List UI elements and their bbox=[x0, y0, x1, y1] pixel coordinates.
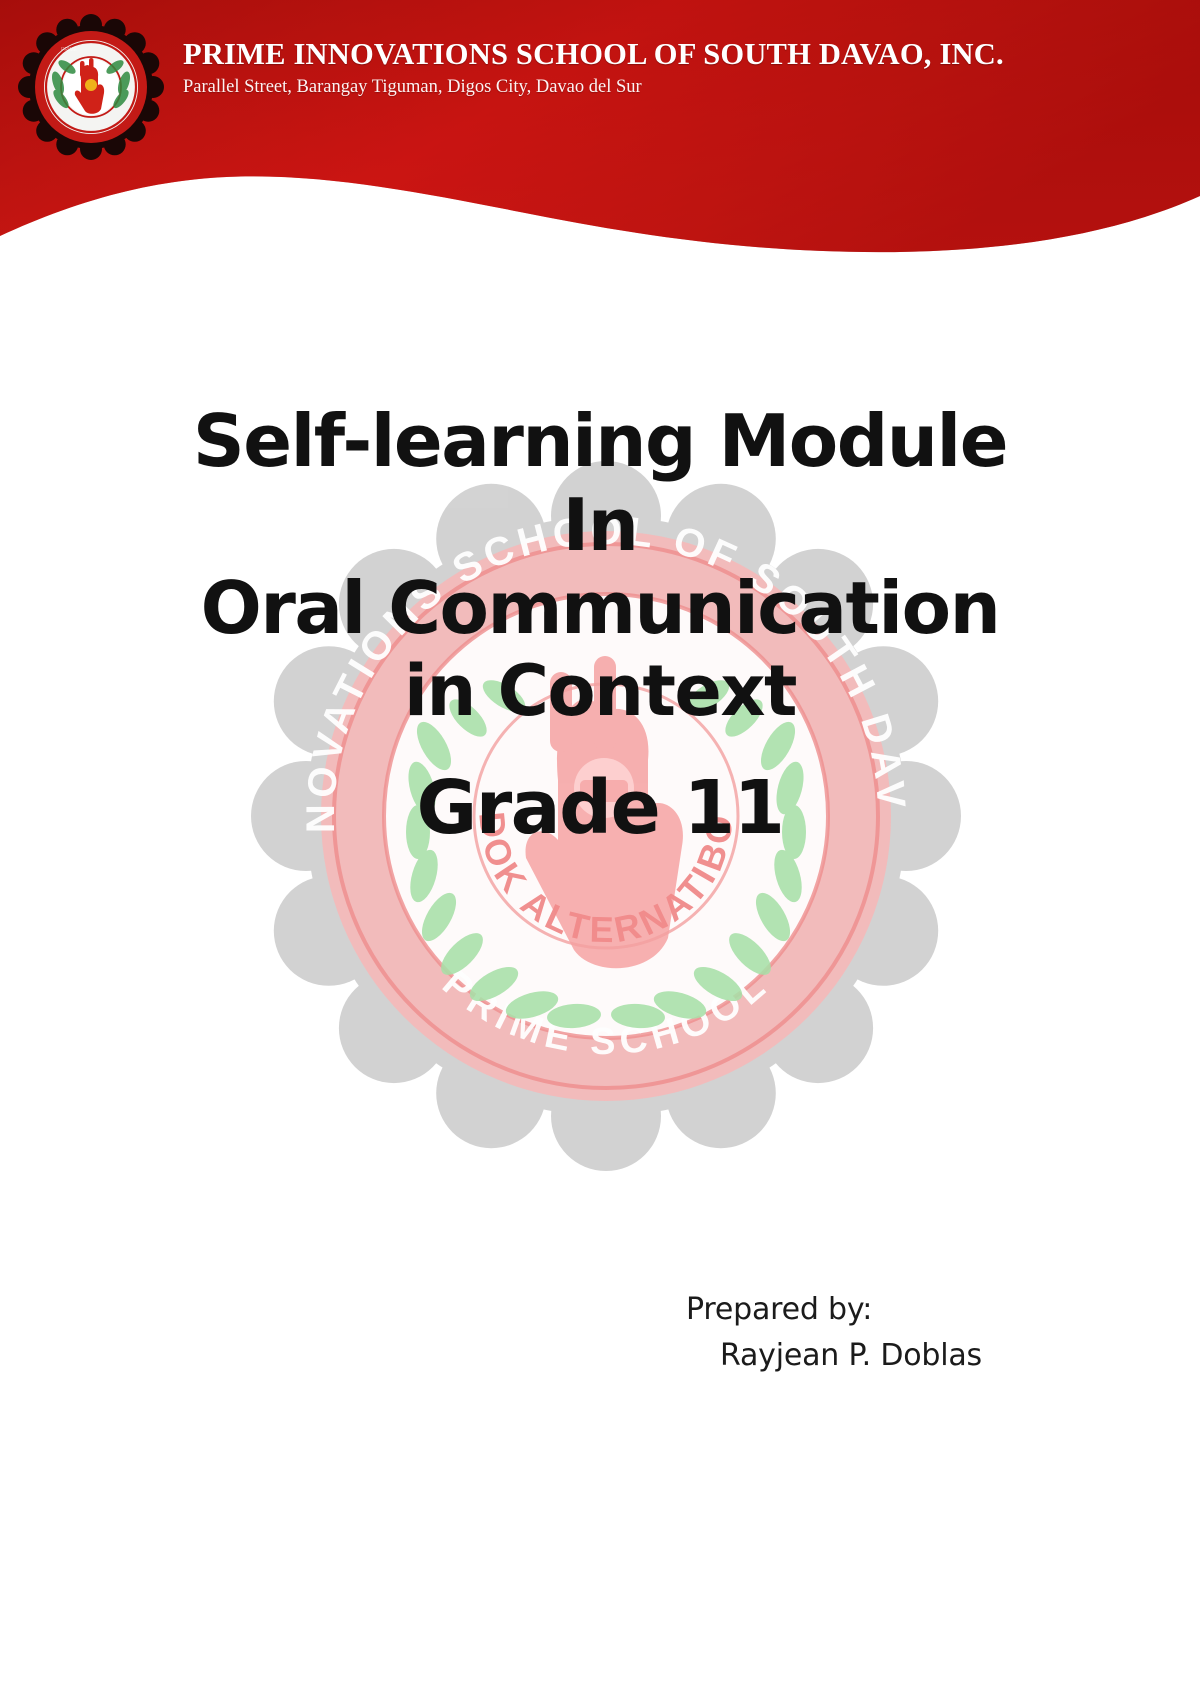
title-line-1: Self-learning Module bbox=[0, 400, 1200, 484]
school-seal-logo: PRIME bbox=[18, 14, 164, 160]
school-address: Parallel Street, Barangay Tiguman, Digos… bbox=[183, 77, 1193, 98]
module-title-block: Self-learning Module In Oral Communicati… bbox=[0, 400, 1200, 852]
prepared-by-label: Prepared by: bbox=[686, 1292, 1200, 1327]
watermark-star-icon bbox=[347, 1084, 865, 1117]
prepared-by-block: Prepared by: Rayjean P. Doblas bbox=[0, 1292, 1200, 1373]
watermark-bottom-ring-text: PRIME SCHOOL bbox=[434, 962, 777, 1063]
prepared-by-name: Rayjean P. Doblas bbox=[720, 1338, 1200, 1373]
header-text-block: PRIME INNOVATIONS SCHOOL OF SOUTH DAVAO,… bbox=[183, 38, 1193, 98]
title-line-4: in Context bbox=[0, 651, 1200, 732]
school-name: PRIME INNOVATIONS SCHOOL OF SOUTH DAVAO,… bbox=[183, 38, 1193, 70]
title-line-3: Oral Communication bbox=[0, 567, 1200, 651]
cover-page: PRIME PRIME INNOVATIONS SCHOOL OF SOUTH … bbox=[0, 0, 1200, 1696]
svg-text:PRIME: PRIME bbox=[61, 47, 78, 53]
title-line-2: In bbox=[0, 484, 1200, 568]
title-line-grade: Grade 11 bbox=[0, 766, 1200, 852]
